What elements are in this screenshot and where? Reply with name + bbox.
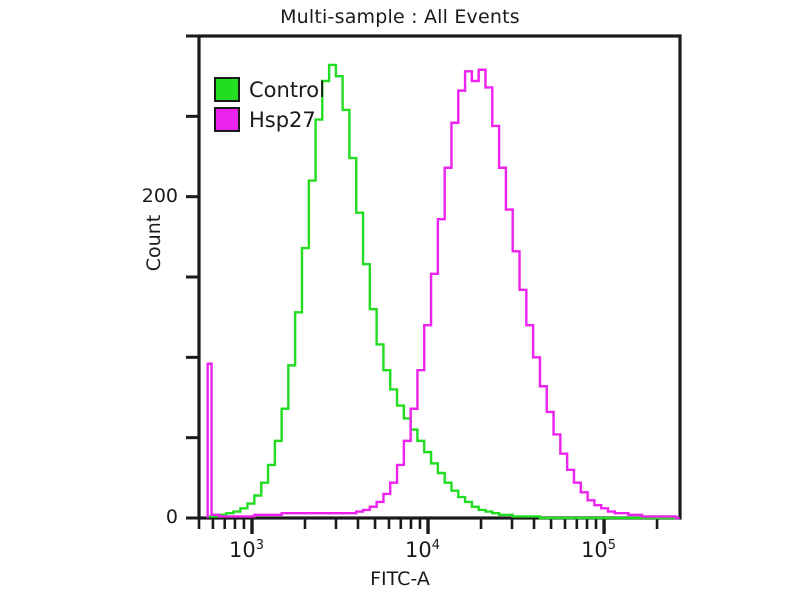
legend-label-hsp27: Hsp27 (249, 108, 316, 132)
y-tick-label-200: 200 (132, 185, 178, 207)
x-axis-title: FITC-A (0, 568, 800, 590)
legend-item-control[interactable]: Control (214, 76, 325, 103)
y-axis-title: Count (143, 215, 165, 271)
x-tick-label-1e3: 103 (229, 538, 264, 562)
legend-swatch-control (214, 77, 240, 102)
x-tick-label-1e4: 104 (405, 538, 440, 562)
legend-swatch-hsp27 (214, 107, 240, 132)
y-tick-label-0: 0 (132, 506, 178, 528)
legend-label-control: Control (249, 78, 325, 102)
plot-canvas (0, 0, 800, 600)
legend-item-hsp27[interactable]: Hsp27 (214, 106, 325, 133)
x-tick-label-1e5: 105 (581, 538, 616, 562)
flow-cytometry-histogram: Multi-sample : All Events Control Hsp27 … (0, 0, 800, 600)
legend: Control Hsp27 (214, 76, 325, 133)
